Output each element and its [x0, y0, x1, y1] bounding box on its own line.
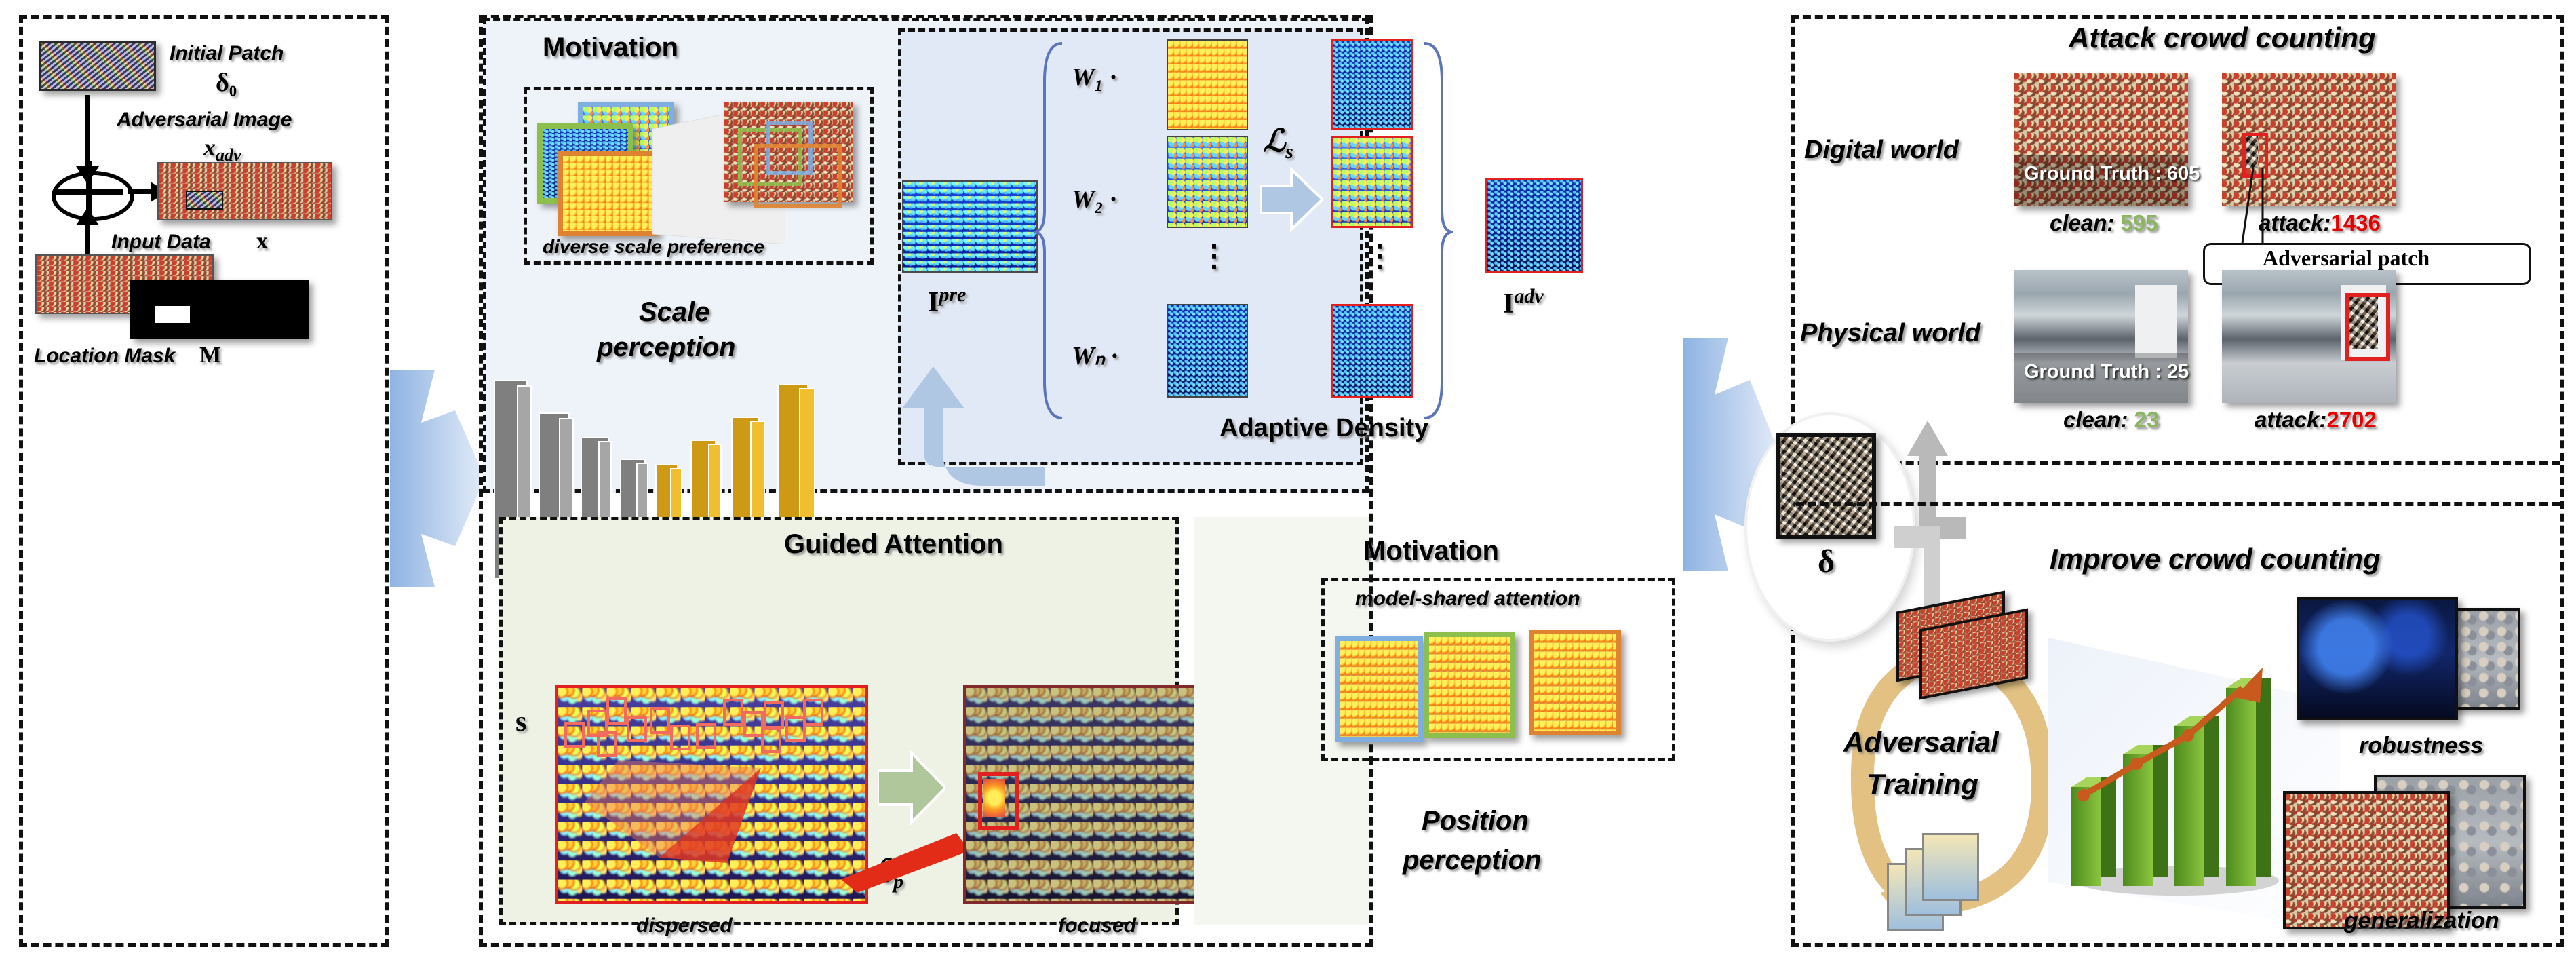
density-weight-1: W₁ ·: [1072, 62, 1116, 92]
physical-attack-patch: [2349, 297, 2378, 349]
attention-focused-hotspot: [983, 779, 1005, 817]
adversarial-image-tile: [157, 162, 332, 220]
guided-attention-title: Guided Attention: [784, 529, 1003, 560]
ls-L: ℒ: [1263, 123, 1285, 158]
density-loss-arrow: [1260, 167, 1323, 232]
input-data-symbol: x: [256, 229, 268, 254]
robustness-caption: robustness: [2359, 733, 2483, 759]
density-adv-map-2: [1331, 136, 1413, 228]
density-loss-symbol: ℒs: [1263, 122, 1293, 163]
iadv-sup: adv: [1514, 285, 1543, 307]
density-output-label: Iadv: [1503, 285, 1544, 320]
scale-motivation-title: Motivation: [543, 33, 678, 63]
attention-transform-arrow: [878, 750, 945, 825]
adversarial-image-label: Adversarial Image: [117, 109, 292, 132]
generalization-caption: generalization: [2344, 908, 2499, 934]
physical-clean-whiteboard: [2135, 285, 2177, 358]
initial-patch-symbol: δ₀: [216, 68, 237, 98]
density-left-brace: [1032, 41, 1065, 421]
digital-clean-groundtruth: Ground Truth : 605: [2024, 163, 2200, 185]
adversarial-training-line2: Training: [1867, 768, 1978, 801]
density-scale-map-1: [1167, 39, 1248, 130]
density-output-iadv-image: [1485, 178, 1583, 273]
density-weight-n: Wₙ ·: [1072, 341, 1118, 371]
scale-perception-line1: Scale: [639, 297, 710, 328]
attack-row-label-physical: Physical world: [1800, 319, 1980, 348]
adaptive-density-title: Adaptive Density: [1219, 414, 1428, 443]
location-mask-white-region: [155, 306, 190, 323]
initial-patch-image: [39, 41, 156, 91]
iadv-I: I: [1503, 288, 1514, 320]
patch-to-sum-arrow: [85, 95, 90, 170]
scale-pref-tile-orange: [558, 151, 658, 236]
adversarial-image-symbol: xadv: [203, 133, 241, 166]
physical-attack-value: 2702: [2326, 407, 2376, 432]
position-attention-tile-green: [1424, 632, 1515, 738]
position-attention-tile-orange: [1529, 630, 1621, 735]
density-input-ipre-image: [902, 180, 1038, 273]
scale-pref-caption: diverse scale preference: [543, 236, 764, 258]
initial-patch-label: Initial Patch: [170, 42, 284, 65]
physical-attack-caption: attack:2702: [2255, 407, 2377, 433]
ipre-sup: pre: [939, 284, 966, 306]
adversarial-image-patch-overlay: [186, 191, 223, 210]
physical-clean-caption: clean: 23: [2063, 407, 2159, 433]
position-perception-line1: Position: [1422, 806, 1529, 836]
density-input-label: Ipre: [928, 284, 966, 319]
physical-clean-prefix: clean:: [2063, 407, 2128, 432]
digital-clean-caption: clean: 595: [2050, 210, 2158, 236]
robustness-image-front: [2297, 597, 2458, 720]
digital-clean-prefix: clean:: [2050, 210, 2114, 235]
improve-section-title: Improve crowd counting: [2050, 543, 2381, 575]
scale-pref-box-orange: [754, 144, 842, 208]
position-motivation-title: Motivation: [1363, 536, 1499, 566]
digital-clean-value: 595: [2121, 210, 2158, 235]
position-attention-tile-blue: [1335, 636, 1423, 742]
density-scale-map-2: [1167, 136, 1248, 228]
attack-row-label-digital: Digital world: [1804, 136, 1959, 165]
attention-focused-caption: focused: [1058, 915, 1136, 938]
density-scale-map-n: [1167, 304, 1248, 398]
input-to-sum-arrowhead: [76, 208, 99, 225]
ls-sub: s: [1285, 140, 1293, 163]
physical-attack-prefix: attack:: [2255, 407, 2326, 432]
guided-attention-scale-symbol: s: [515, 706, 526, 738]
digital-attack-patch: [2246, 136, 2258, 168]
ipre-I: I: [928, 287, 939, 318]
sum-to-adv-arrow: [128, 189, 153, 194]
density-adv-map-1: [1331, 39, 1413, 130]
attention-dispersed-caption: dispersed: [636, 915, 733, 938]
physical-clean-groundtruth: Ground Truth : 25: [2024, 361, 2189, 383]
training-model-block-1: [1922, 833, 1979, 901]
location-mask-label: Location Mask: [34, 345, 175, 368]
left-to-middle-flow-arrow: [390, 370, 485, 587]
adv-x: x: [203, 134, 216, 161]
density-right-ellipsis: ⋮: [1365, 239, 1394, 273]
attack-section-title: Attack crowd counting: [2069, 22, 2376, 54]
physical-clean-value: 23: [2134, 407, 2160, 432]
location-mask-symbol: M: [199, 343, 221, 368]
improve-section-divider: [1796, 502, 2560, 506]
density-weight-2: W₂ ·: [1072, 185, 1116, 214]
density-right-brace: [1422, 41, 1454, 421]
scale-perception-line2: perception: [597, 332, 735, 363]
position-motivation-caption: model-shared attention: [1355, 588, 1580, 611]
adversarial-training-line1: Adversarial: [1843, 726, 1999, 758]
density-left-ellipsis: ⋮: [1199, 239, 1229, 273]
input-data-label: Input Data: [111, 231, 211, 254]
sum-operator-horizontal-stroke: [54, 189, 123, 195]
position-perception-line2: perception: [1403, 845, 1541, 876]
density-adv-map-n: [1331, 304, 1413, 398]
attention-dispersed-boxes: [558, 688, 865, 901]
